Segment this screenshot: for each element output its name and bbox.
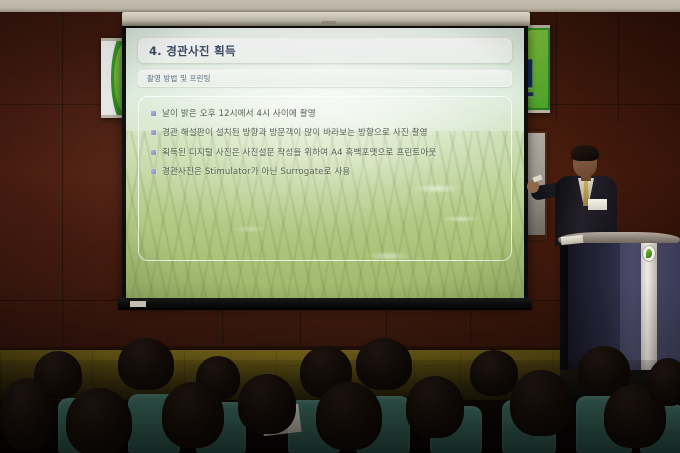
wall-seam: [556, 12, 557, 122]
projected-slide: 4. 경관사진 획득 촬영 방법 및 프린팅 날이 밝은 오후 12시에서 4시…: [126, 28, 524, 300]
wall-seam: [618, 12, 619, 122]
roller-screen-housing: [122, 12, 530, 27]
leaf-emblem-icon: [643, 246, 655, 261]
seated-audience: [0, 360, 680, 453]
slide-bullet-text: 획득된 디지털 사진은 사진설문 작성을 위하여 A4 흑백포맷으로 프린트아웃: [162, 147, 436, 159]
slide-subtitle: 촬영 방법 및 프린팅: [147, 73, 211, 84]
lecture-hall-photo: 젼 4. 경관사진 획득 촬영 방법 및 프린팅 날이 밝은 오후 12시에서 …: [0, 0, 680, 453]
presenter-name-badge: [588, 199, 607, 210]
slide-bullet: 경관사진은 Stimulator가 아닌 Surrogate로 사용: [149, 166, 503, 178]
audience-head: [238, 374, 296, 434]
audience-head: [162, 382, 224, 448]
wall-seam: [530, 104, 680, 105]
slide-subtitle-box: 촬영 방법 및 프린팅: [138, 70, 512, 87]
bullet-marker-icon: [151, 111, 156, 116]
audience-head: [66, 388, 132, 453]
audience-head: [470, 350, 518, 396]
screen-bottom-bar: [118, 298, 532, 310]
audience-head: [406, 376, 464, 438]
slide-bullet-text: 경관 해설판이 설치된 방향과 방문객이 많이 바라보는 방향으로 사진 촬영: [162, 127, 428, 139]
slide-body-box: 날이 밝은 오후 12시에서 4시 사이에 촬영 경관 해설판이 설치된 방향과…: [138, 96, 512, 261]
housing-logo-icon: [322, 21, 336, 24]
slide-bullet: 획득된 디지털 사진은 사진설문 작성을 위하여 A4 흑백포맷으로 프린트아웃: [149, 147, 503, 159]
audience-head: [510, 370, 572, 436]
slide-title: 4. 경관사진 획득: [149, 43, 236, 59]
bullet-marker-icon: [151, 169, 156, 174]
bullet-marker-icon: [151, 150, 156, 155]
audience-head: [648, 358, 680, 406]
bullet-marker-icon: [151, 130, 156, 135]
slide-bullet: 경관 해설판이 설치된 방향과 방문객이 많이 바라보는 방향으로 사진 촬영: [149, 127, 503, 139]
presenter-hair: [571, 145, 599, 161]
slide-bullet: 날이 밝은 오후 12시에서 4시 사이에 촬영: [149, 108, 503, 120]
slide-bullet-text: 날이 밝은 오후 12시에서 4시 사이에 촬영: [162, 108, 316, 120]
presenter-hand: [527, 180, 539, 193]
audience-head: [356, 338, 412, 390]
audience-head: [0, 378, 54, 450]
slide-bullet-text: 경관사진은 Stimulator가 아닌 Surrogate로 사용: [162, 166, 350, 178]
audience-head: [316, 382, 382, 450]
slide-title-box: 4. 경관사진 획득: [138, 38, 512, 63]
audience-head: [118, 338, 174, 390]
screen-pull-handle: [130, 301, 146, 307]
